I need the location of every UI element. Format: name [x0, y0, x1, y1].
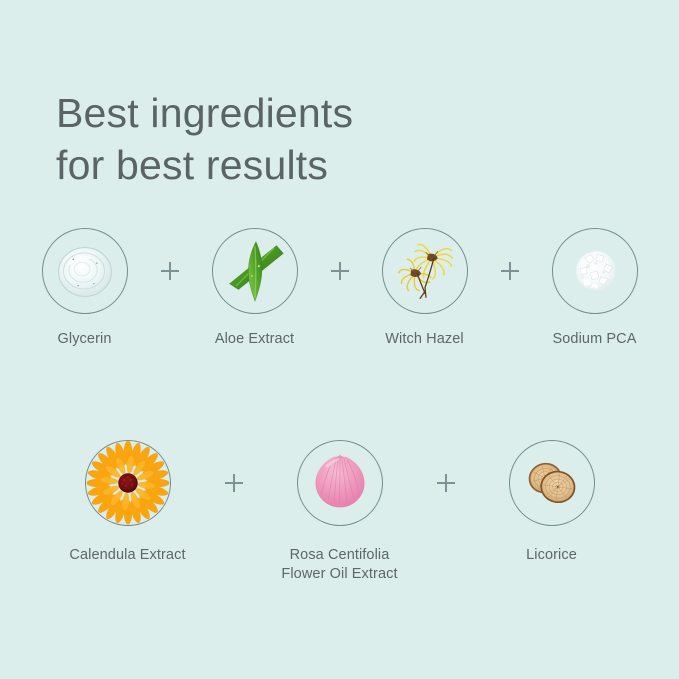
calendula-flower-icon: [86, 441, 170, 525]
ingredient-circle: [85, 440, 171, 526]
ingredients-poster: Best ingredients for best results: [0, 0, 679, 679]
page-title: Best ingredients for best results: [56, 87, 616, 191]
rose-petal-icon: [298, 441, 382, 525]
plus-separator-icon: [501, 228, 519, 314]
ingredient-sodium-pca[interactable]: Sodium PCA: [537, 228, 653, 349]
aloe-leaf-icon: [213, 229, 297, 313]
glycerin-gel-drop-icon: [43, 229, 127, 313]
ingredient-glycerin[interactable]: Glycerin: [27, 228, 143, 349]
plus-separator-icon: [331, 228, 349, 314]
ingredient-calendula-extract[interactable]: Calendula Extract: [53, 440, 203, 565]
ingredient-licorice[interactable]: Licorice: [477, 440, 627, 565]
plus-separator-icon: [225, 440, 243, 526]
ingredient-label: Rosa Centifolia Flower Oil Extract: [281, 546, 397, 584]
ingredient-label: Licorice: [526, 546, 577, 565]
ingredient-rosa-centifolia[interactable]: Rosa Centifolia Flower Oil Extract: [265, 440, 415, 584]
ingredient-label: Aloe Extract: [215, 330, 294, 349]
ingredient-circle: [509, 440, 595, 526]
ingredient-witch-hazel[interactable]: Witch Hazel: [367, 228, 483, 349]
ingredient-label: Glycerin: [58, 330, 112, 349]
ingredient-row-2: Calendula Extract: [0, 440, 679, 584]
plus-separator-icon: [437, 440, 455, 526]
ingredient-row-1: Glycerin: [0, 228, 679, 349]
licorice-root-slice-icon: [510, 441, 594, 525]
ingredient-circle: [552, 228, 638, 314]
ingredient-circle: [382, 228, 468, 314]
ingredient-circle: [42, 228, 128, 314]
ingredient-label: Sodium PCA: [552, 330, 636, 349]
ingredient-label: Witch Hazel: [385, 330, 463, 349]
ingredient-circle: [212, 228, 298, 314]
ingredient-aloe-extract[interactable]: Aloe Extract: [197, 228, 313, 349]
witch-hazel-flower-icon: [383, 229, 467, 313]
sodium-pca-powder-icon: [553, 229, 637, 313]
ingredient-circle: [297, 440, 383, 526]
ingredient-label: Calendula Extract: [69, 546, 185, 565]
plus-separator-icon: [161, 228, 179, 314]
